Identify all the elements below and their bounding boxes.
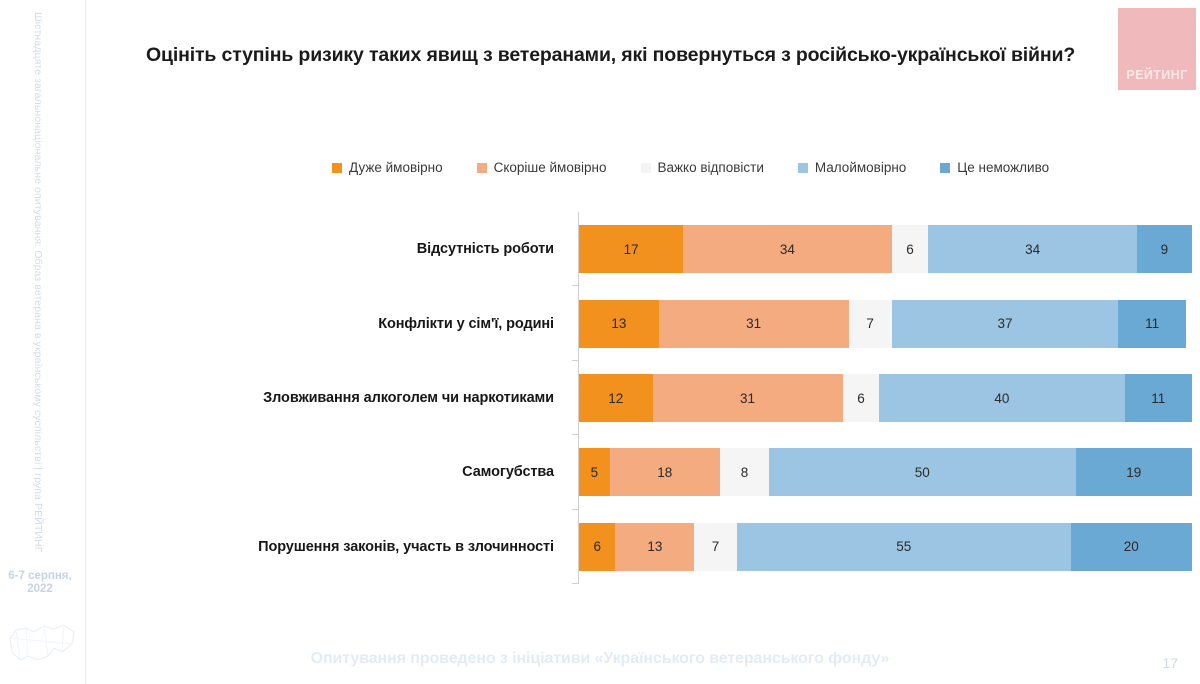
bar-segment[interactable]: 18 xyxy=(610,448,720,496)
bar-segment[interactable]: 31 xyxy=(653,374,843,422)
rating-group-logo: РЕЙТИНГ xyxy=(1118,8,1196,90)
legend-label-2: Важко відповісти xyxy=(658,160,764,175)
category-label: Порушення законів, участь в злочинності xyxy=(196,539,566,555)
bar-segment[interactable]: 34 xyxy=(928,225,1136,273)
chart-row: Зловживання алкоголем чи наркотиками1231… xyxy=(196,361,1196,435)
legend-item-3[interactable]: Малоймовірно xyxy=(798,160,906,175)
bar-segment[interactable]: 7 xyxy=(849,300,892,348)
bar-segment[interactable]: 8 xyxy=(720,448,769,496)
page-number: 17 xyxy=(1162,655,1178,671)
category-label: Самогубства xyxy=(196,464,566,480)
category-label: Конфлікти у сім'ї, родині xyxy=(196,316,566,332)
left-sidebar: Шістнадцяте загальнонаціональне опитуван… xyxy=(0,0,86,684)
bar-segment[interactable]: 55 xyxy=(737,523,1071,571)
chart-row: Самогубства51885019 xyxy=(196,435,1196,509)
footer-note: Опитування проведено з ініціативи «Украї… xyxy=(0,650,1200,668)
legend-item-1[interactable]: Скоріше ймовірно xyxy=(477,160,607,175)
category-label: Відсутність роботи xyxy=(196,241,566,257)
sidebar-study-title: Шістнадцяте загальнонаціональне опитуван… xyxy=(32,12,44,532)
bar-segment[interactable]: 6 xyxy=(892,225,929,273)
bar-segment[interactable]: 12 xyxy=(579,374,653,422)
bar-segment[interactable]: 20 xyxy=(1071,523,1192,571)
bar-segment[interactable]: 7 xyxy=(694,523,736,571)
bar-segment[interactable]: 40 xyxy=(879,374,1124,422)
sidebar-survey-date: 6-7 серпня, 2022 xyxy=(0,570,80,596)
bar-segment[interactable]: 9 xyxy=(1137,225,1192,273)
bar-segment[interactable]: 37 xyxy=(892,300,1119,348)
stacked-bar-chart: Відсутність роботи17346349Конфлікти у сі… xyxy=(196,212,1196,584)
legend-item-0[interactable]: Дуже ймовірно xyxy=(332,160,443,175)
chart-row: Конфлікти у сім'ї, родині133173711 xyxy=(196,286,1196,360)
axis-tick xyxy=(572,583,578,584)
bar-segment[interactable]: 17 xyxy=(579,225,683,273)
bar-segment[interactable]: 13 xyxy=(615,523,694,571)
legend-swatch-icon-4 xyxy=(940,163,950,173)
chart-row: Відсутність роботи17346349 xyxy=(196,212,1196,286)
legend-label-0: Дуже ймовірно xyxy=(349,160,443,175)
legend-label-1: Скоріше ймовірно xyxy=(494,160,607,175)
legend-swatch-icon-3 xyxy=(798,163,808,173)
bar-segment[interactable]: 11 xyxy=(1125,374,1192,422)
stacked-bar: 133173711 xyxy=(579,300,1192,348)
legend-item-2[interactable]: Важко відповісти xyxy=(641,160,764,175)
bar-segment[interactable]: 31 xyxy=(659,300,849,348)
bar-segment[interactable]: 34 xyxy=(683,225,891,273)
stacked-bar: 17346349 xyxy=(579,225,1192,273)
chart-row: Порушення законів, участь в злочинності6… xyxy=(196,510,1196,584)
legend-swatch-icon-1 xyxy=(477,163,487,173)
legend-swatch-icon-2 xyxy=(641,163,651,173)
survey-date-line-2: 2022 xyxy=(0,583,80,596)
stacked-bar: 51885019 xyxy=(579,448,1192,496)
stacked-bar: 61375520 xyxy=(579,523,1192,571)
page-title: Оцініть ступінь ризику таких явищ з вете… xyxy=(146,44,1096,67)
ukraine-map-icon xyxy=(2,610,82,682)
chart-rows: Відсутність роботи17346349Конфлікти у сі… xyxy=(196,212,1196,584)
chart-legend: Дуже ймовірно Скоріше ймовірно Важко від… xyxy=(332,160,1132,175)
bar-segment[interactable]: 13 xyxy=(579,300,659,348)
survey-date-line-1: 6-7 серпня, xyxy=(0,570,80,583)
category-label: Зловживання алкоголем чи наркотиками xyxy=(196,390,566,406)
bar-segment[interactable]: 5 xyxy=(579,448,610,496)
bar-segment[interactable]: 6 xyxy=(579,523,615,571)
legend-item-4[interactable]: Це неможливо xyxy=(940,160,1049,175)
bar-segment[interactable]: 6 xyxy=(843,374,880,422)
legend-swatch-icon-0 xyxy=(332,163,342,173)
logo-label: РЕЙТИНГ xyxy=(1126,68,1187,82)
bar-segment[interactable]: 19 xyxy=(1076,448,1192,496)
legend-label-3: Малоймовірно xyxy=(815,160,906,175)
stacked-bar: 123164011 xyxy=(579,374,1192,422)
bar-segment[interactable]: 11 xyxy=(1118,300,1185,348)
bar-segment[interactable]: 50 xyxy=(769,448,1076,496)
legend-label-4: Це неможливо xyxy=(957,160,1049,175)
